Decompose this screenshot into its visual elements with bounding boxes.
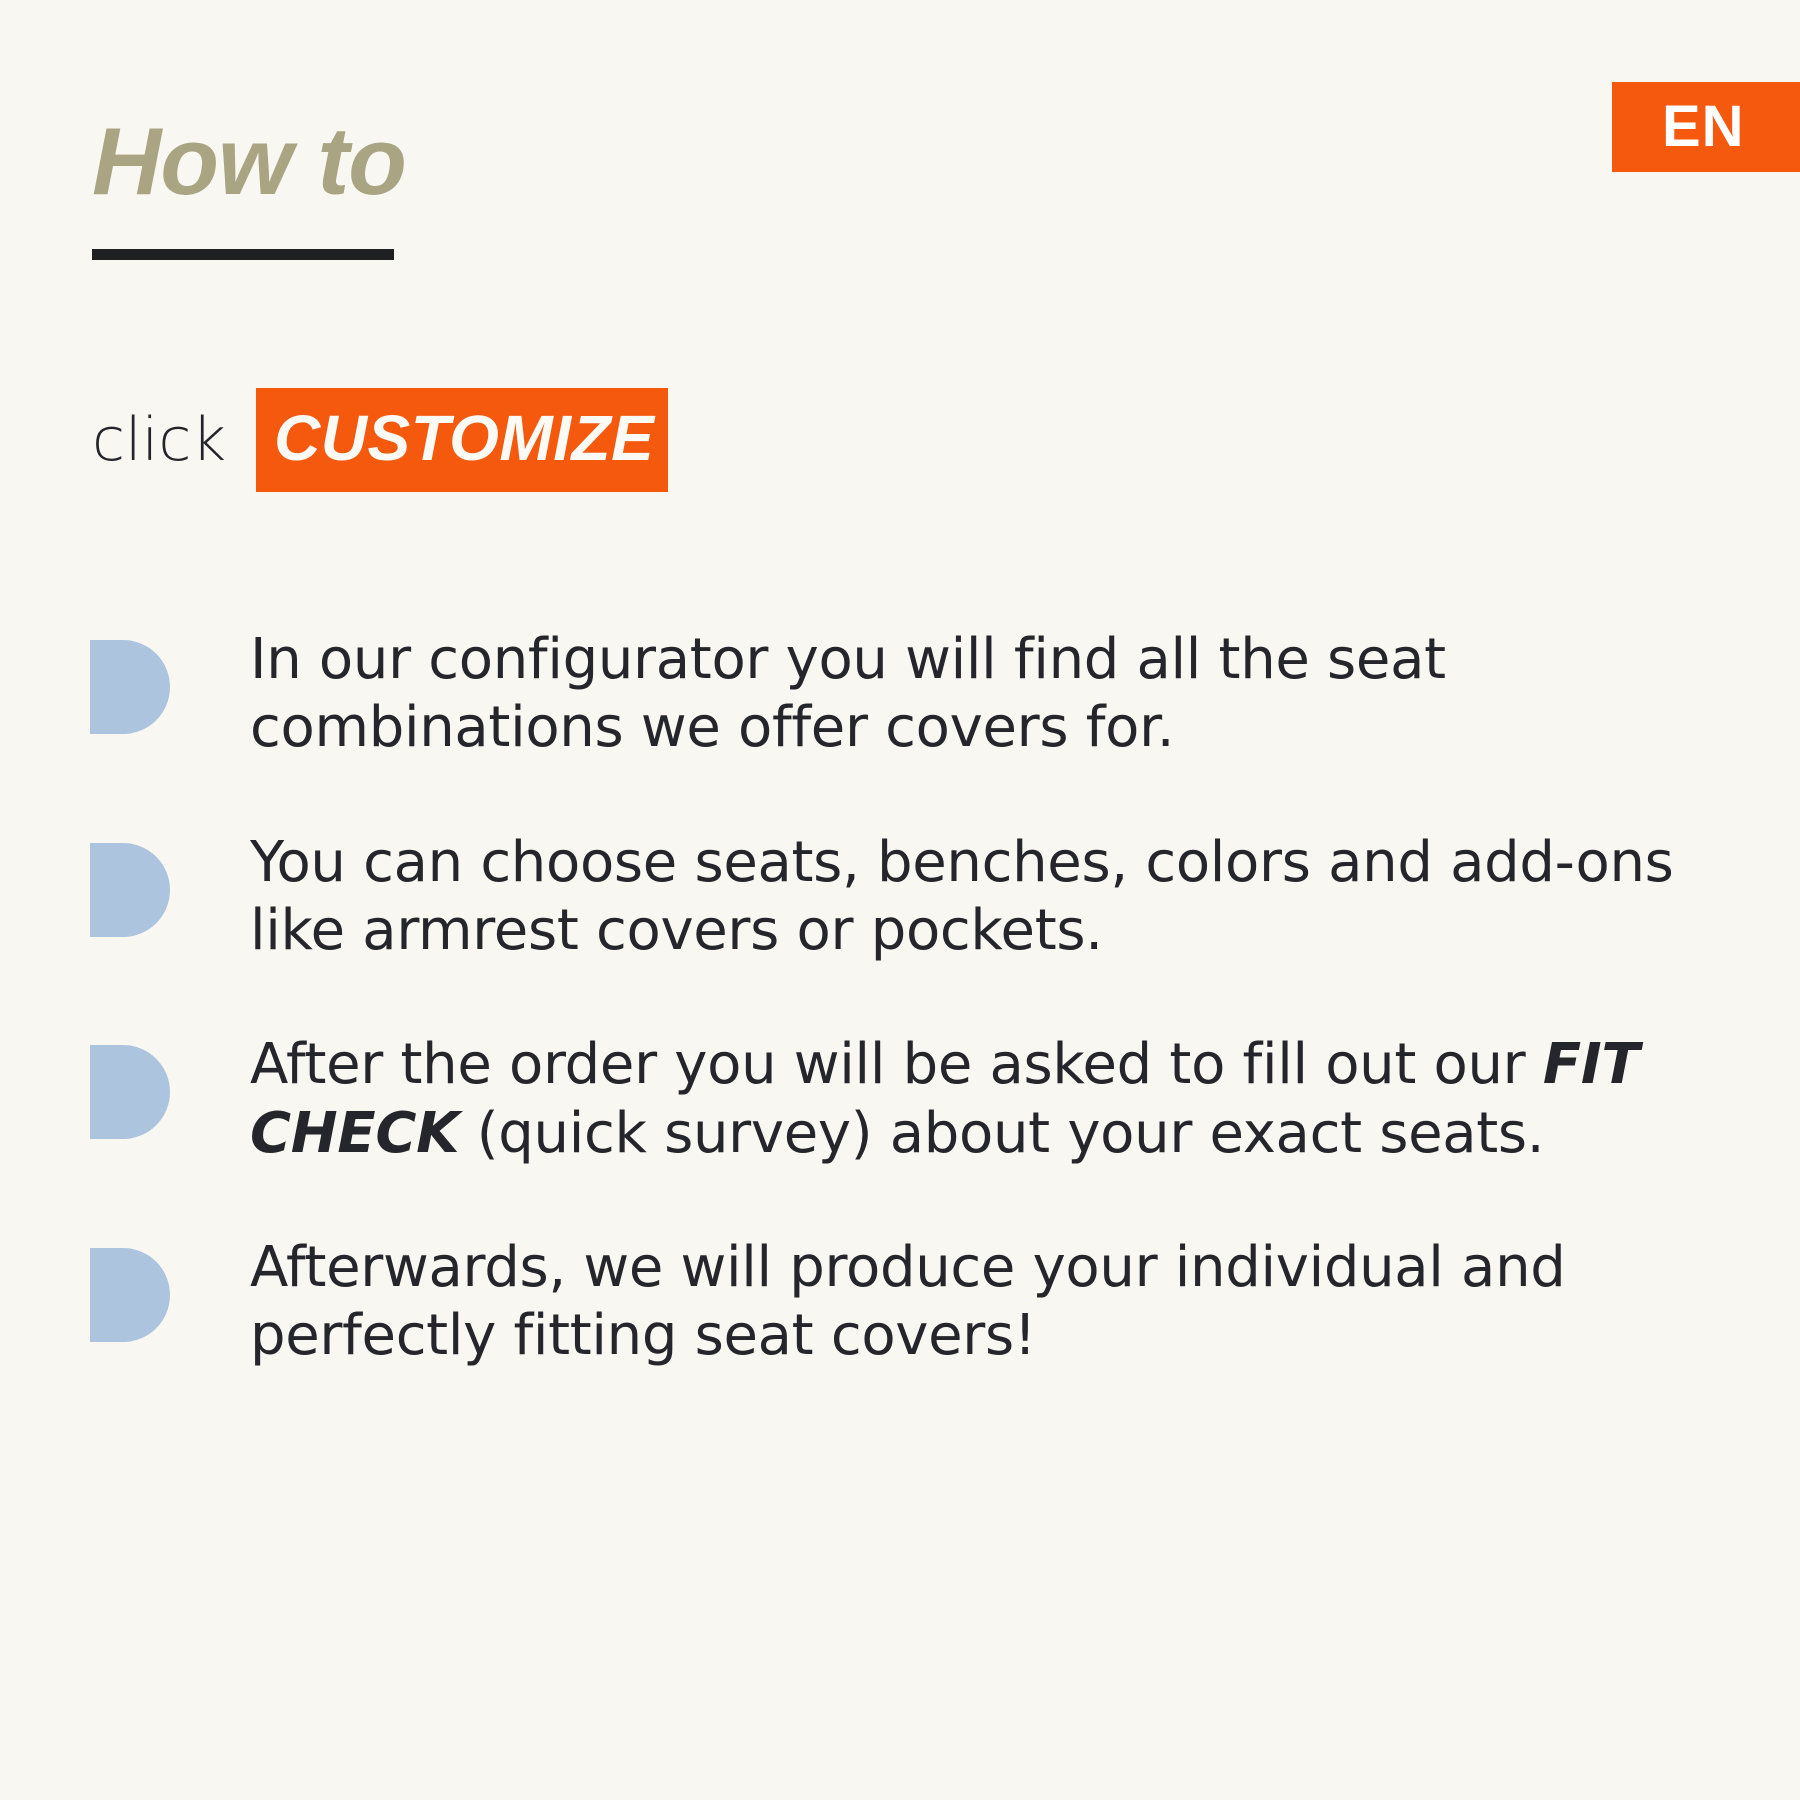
heading-block: How to bbox=[92, 112, 406, 260]
half-capsule-bullet-icon bbox=[90, 1045, 170, 1139]
half-capsule-bullet-icon bbox=[90, 843, 170, 937]
language-badge-label: EN bbox=[1662, 98, 1745, 156]
list-item-text: You can choose seats, benches, colors an… bbox=[250, 829, 1690, 966]
list-item-text-run: After the order you will be asked to fil… bbox=[250, 1032, 1543, 1097]
list-item: After the order you will be asked to fil… bbox=[90, 1031, 1690, 1168]
list-item-text-run: (quick survey) about your exact seats. bbox=[459, 1101, 1544, 1166]
half-capsule-bullet-icon bbox=[90, 1248, 170, 1342]
customize-button-label[interactable]: CUSTOMIZE bbox=[256, 388, 668, 492]
list-item: You can choose seats, benches, colors an… bbox=[90, 829, 1690, 966]
list-item-text-run: In our configurator you will find all th… bbox=[250, 627, 1446, 760]
list-item-text: In our configurator you will find all th… bbox=[250, 626, 1690, 763]
list-item-text: Afterwards, we will produce your individ… bbox=[250, 1234, 1690, 1371]
list-item: In our configurator you will find all th… bbox=[90, 626, 1690, 763]
half-capsule-bullet-icon bbox=[90, 640, 170, 734]
page-title: How to bbox=[92, 112, 406, 213]
cta-line: click CUSTOMIZE bbox=[92, 388, 668, 492]
language-badge[interactable]: EN bbox=[1612, 82, 1800, 172]
cta-prefix-label: click bbox=[92, 410, 226, 470]
list-item: Afterwards, we will produce your individ… bbox=[90, 1234, 1690, 1371]
list-item-text-run: Afterwards, we will produce your individ… bbox=[250, 1235, 1566, 1368]
list-item-text: After the order you will be asked to fil… bbox=[250, 1031, 1690, 1168]
steps-list: In our configurator you will find all th… bbox=[90, 626, 1690, 1437]
list-item-text-run: You can choose seats, benches, colors an… bbox=[250, 830, 1674, 963]
heading-underline-rule bbox=[92, 249, 394, 260]
